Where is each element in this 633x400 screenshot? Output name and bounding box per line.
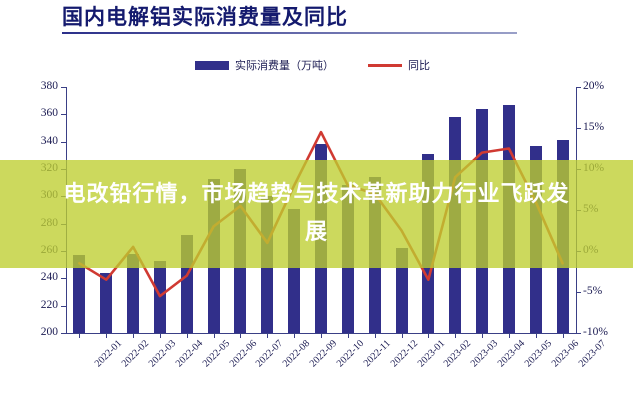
- x-axis-tick-label: 2022-08: [281, 338, 312, 369]
- y-axis-left-tick-label: 300: [12, 190, 58, 201]
- x-axis-tick: [455, 333, 456, 338]
- legend-item-yoy: 同比: [368, 57, 430, 73]
- y-axis-right-tick-label: -10%: [583, 327, 631, 338]
- y-axis-left-tick: [61, 306, 66, 307]
- x-axis-tick: [187, 333, 188, 338]
- x-axis-tick-label: 2022-09: [308, 338, 339, 369]
- x-axis-tick-label: 2022-07: [254, 338, 285, 369]
- y-axis-left-tick: [61, 87, 66, 88]
- y-axis-left-tick-label: 280: [12, 218, 58, 229]
- x-axis-tick-label: 2023-04: [496, 338, 527, 369]
- chart-legend: 实际消费量（万吨） 同比: [195, 57, 430, 73]
- x-axis-tick: [160, 333, 161, 338]
- x-axis-tick: [348, 333, 349, 338]
- y-axis-left-tick: [61, 114, 66, 115]
- x-axis-tick-label: 2023-05: [523, 338, 554, 369]
- y-axis-right-tick: [576, 251, 581, 252]
- y-axis-left-tick: [61, 169, 66, 170]
- x-axis-tick-label: 2022-04: [174, 338, 205, 369]
- y-axis-left-tick: [61, 251, 66, 252]
- page-title: 国内电解铝实际消费量及同比: [62, 4, 602, 30]
- legend-label-consumption: 实际消费量（万吨）: [235, 57, 334, 73]
- x-axis-tick: [240, 333, 241, 338]
- y-axis-left-tick: [61, 278, 66, 279]
- plot-area: [66, 87, 576, 333]
- x-axis-tick-label: 2023-07: [576, 338, 607, 369]
- y-axis-left-tick-label: 320: [12, 163, 58, 174]
- x-axis-tick: [133, 333, 134, 338]
- y-axis-right-tick-label: 5%: [583, 204, 631, 215]
- title-divider: [62, 32, 517, 34]
- x-axis-tick-label: 2022-11: [361, 338, 392, 369]
- legend-label-yoy: 同比: [408, 57, 430, 73]
- x-axis-tick-label: 2022-05: [201, 338, 232, 369]
- x-axis-tick: [106, 333, 107, 338]
- y-axis-right-tick-label: 10%: [583, 163, 631, 174]
- legend-item-consumption: 实际消费量（万吨）: [195, 57, 334, 73]
- y-axis-left-tick-label: 340: [12, 136, 58, 147]
- x-axis-tick: [482, 333, 483, 338]
- legend-bar-swatch-icon: [195, 61, 229, 70]
- yoy-line-series: [66, 87, 576, 333]
- x-axis-tick: [509, 333, 510, 338]
- y-axis-right-tick: [576, 128, 581, 129]
- legend-line-swatch-icon: [368, 64, 402, 67]
- y-axis-left-tick: [61, 333, 66, 334]
- x-axis-tick-label: 2022-01: [93, 338, 124, 369]
- y-axis-right-tick: [576, 87, 581, 88]
- y-axis-left-tick-label: 260: [12, 245, 58, 256]
- y-axis-right-tick: [576, 292, 581, 293]
- x-axis-tick: [214, 333, 215, 338]
- y-axis-left-tick-label: 380: [12, 81, 58, 92]
- x-axis-tick-label: 2023-03: [469, 338, 500, 369]
- y-axis-right-tick-label: 15%: [583, 122, 631, 133]
- x-axis-tick-label: 2022-10: [335, 338, 366, 369]
- x-axis-tick-label: 2022-03: [147, 338, 178, 369]
- y-axis-left-tick-label: 360: [12, 108, 58, 119]
- x-axis-tick: [267, 333, 268, 338]
- title-block: 国内电解铝实际消费量及同比: [62, 4, 602, 34]
- y-axis-left-tick: [61, 196, 66, 197]
- x-axis-tick: [321, 333, 322, 338]
- x-axis-tick: [375, 333, 376, 338]
- chart-page: 国内电解铝实际消费量及同比 实际消费量（万吨） 同比 2002202402602…: [0, 0, 633, 400]
- x-axis-tick-label: 2022-12: [388, 338, 419, 369]
- y-axis-right-tick: [576, 210, 581, 211]
- x-axis-tick-label: 2022-06: [227, 338, 258, 369]
- y-axis-left-tick: [61, 224, 66, 225]
- y-axis-right-tick-label: 0%: [583, 245, 631, 256]
- x-axis-tick-label: 2023-01: [415, 338, 446, 369]
- y-axis-left-tick: [61, 142, 66, 143]
- y-axis-right-tick: [576, 169, 581, 170]
- x-axis-tick: [536, 333, 537, 338]
- y-axis-left-tick-label: 200: [12, 327, 58, 338]
- x-axis-tick: [428, 333, 429, 338]
- x-axis-tick: [563, 333, 564, 338]
- y-axis-right-tick: [576, 333, 581, 334]
- x-axis-tick: [294, 333, 295, 338]
- y-axis-left-tick-label: 220: [12, 300, 58, 311]
- y-axis-right-tick-label: 20%: [583, 81, 631, 92]
- x-axis-tick: [79, 333, 80, 338]
- yoy-line-path: [79, 132, 562, 296]
- y-axis-right-tick-label: -5%: [583, 286, 631, 297]
- x-axis-tick-label: 2023-02: [442, 338, 473, 369]
- x-axis-tick-label: 2023-06: [550, 338, 581, 369]
- y-axis-left-tick-label: 240: [12, 272, 58, 283]
- x-axis-tick-label: 2022-02: [120, 338, 151, 369]
- x-axis-tick: [402, 333, 403, 338]
